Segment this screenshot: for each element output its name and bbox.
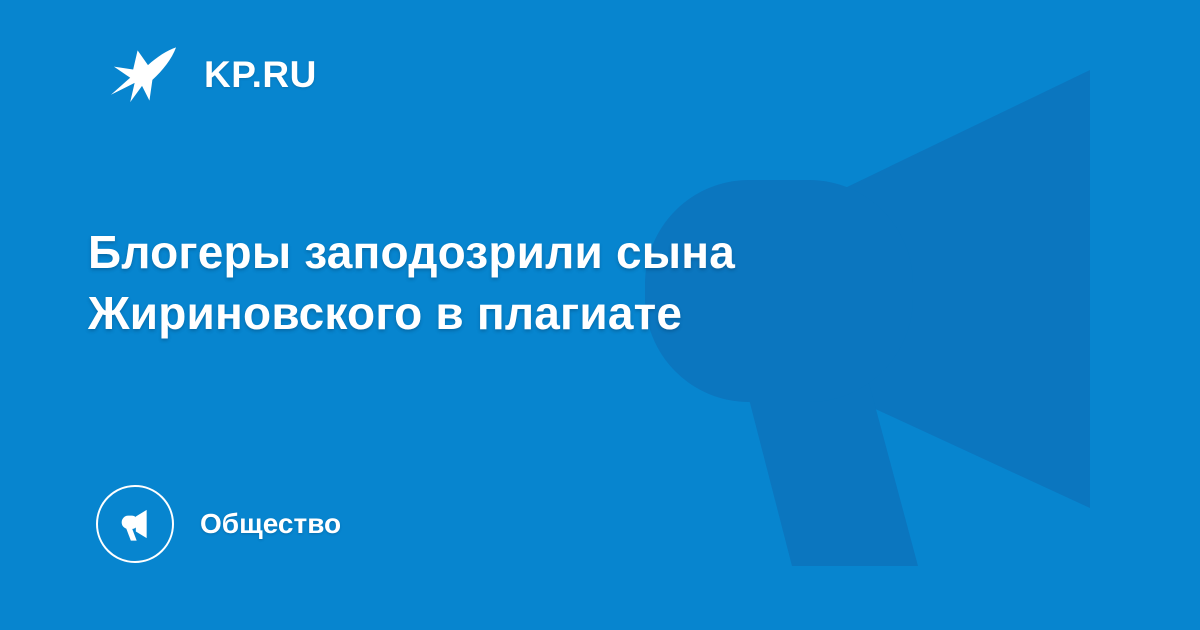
page-title: Блогеры заподозрили сына Жириновского в … <box>88 222 918 343</box>
swallow-bird-icon <box>108 37 182 111</box>
share-card: KP.RU Блогеры заподозрили сына Жириновск… <box>0 0 1200 630</box>
brand-wordmark: KP.RU <box>204 56 317 93</box>
site-logo[interactable]: KP.RU <box>108 38 317 110</box>
category-badge[interactable]: Общество <box>96 484 341 564</box>
category-label: Общество <box>200 510 341 538</box>
category-icon-circle <box>96 485 174 563</box>
